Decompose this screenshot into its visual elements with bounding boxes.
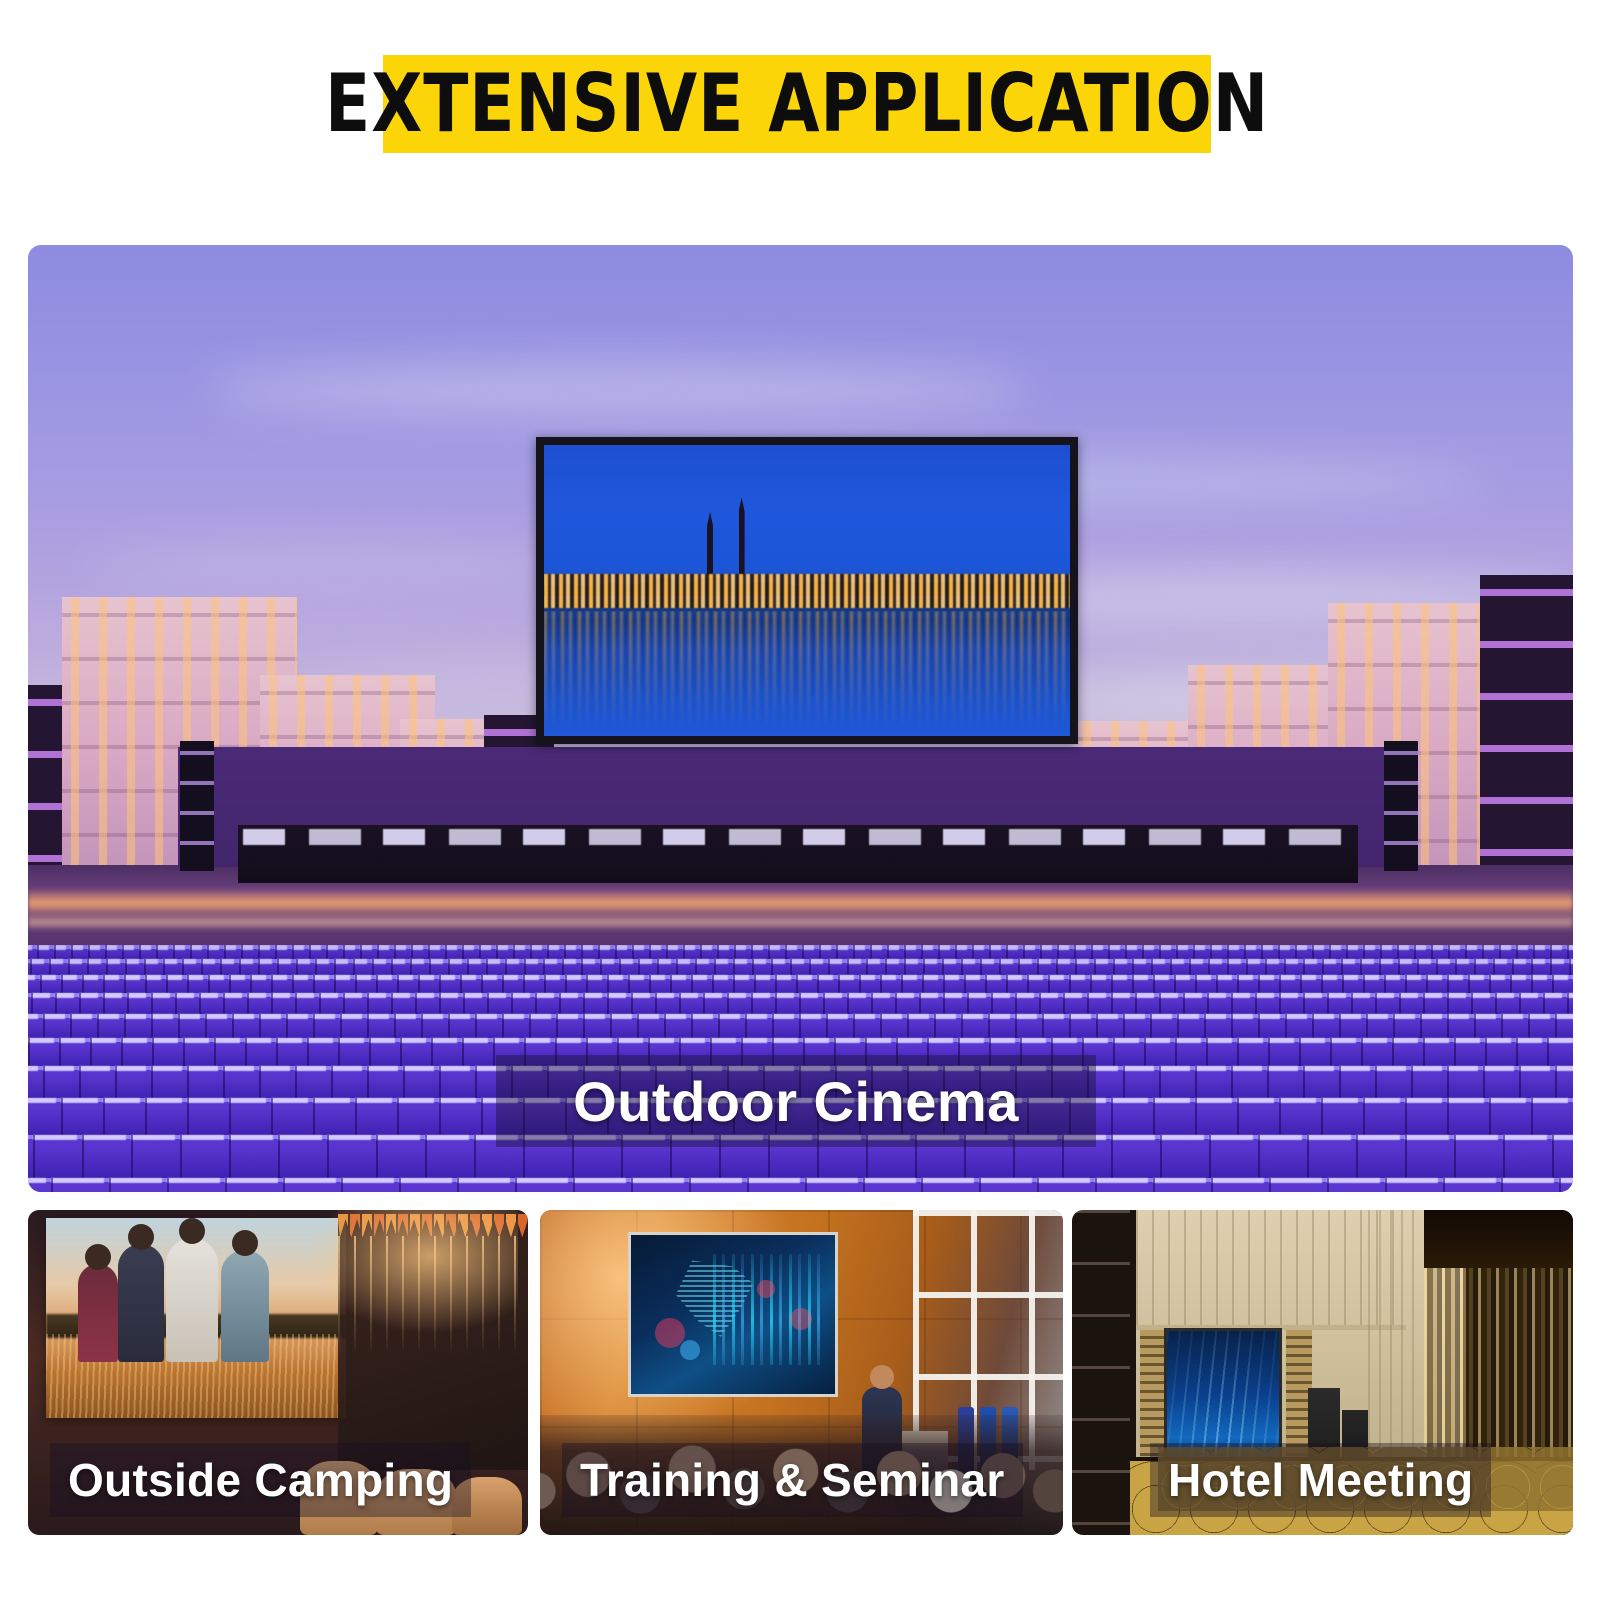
hero-caption: Outdoor Cinema	[496, 1055, 1096, 1147]
tile-outside-camping: Outside Camping	[28, 1210, 528, 1535]
tile-caption: Training & Seminar	[562, 1443, 1023, 1517]
water-reflection	[544, 611, 1070, 736]
tile-caption: Outside Camping	[50, 1443, 471, 1517]
tile-hotel-meeting: Hotel Meeting	[1072, 1210, 1573, 1535]
head	[128, 1224, 154, 1250]
header-banner: EXTENSIVE APPLICATION	[383, 55, 1211, 153]
projection-screen	[536, 437, 1078, 744]
cloud-streak	[208, 365, 1028, 415]
seat-row	[28, 1014, 1573, 1040]
stage-truss	[180, 741, 214, 871]
person-silhouette	[118, 1244, 164, 1362]
seat-row	[28, 975, 1573, 995]
screen-bokeh-dot	[757, 1280, 775, 1298]
product-feature-page: EXTENSIVE APPLICATION	[0, 0, 1600, 1600]
tile-training-seminar: Training & Seminar	[540, 1210, 1063, 1535]
person-silhouette	[78, 1264, 118, 1362]
tile-caption-text: Training & Seminar	[580, 1453, 1005, 1507]
hero-caption-text: Outdoor Cinema	[573, 1069, 1019, 1134]
screen-content-cityscape	[544, 445, 1070, 736]
head	[870, 1365, 894, 1389]
city-lights	[544, 574, 1070, 608]
seat-row	[28, 993, 1573, 1016]
seminar-projection-screen	[628, 1232, 838, 1397]
curtain-header	[1424, 1210, 1573, 1268]
plaza-light-streak	[28, 913, 1573, 931]
adjacent-image-edge	[1072, 1210, 1130, 1535]
tile-caption-text: Outside Camping	[68, 1453, 453, 1507]
person-silhouette	[166, 1238, 218, 1362]
stage-truss	[1384, 741, 1418, 871]
person-silhouette	[221, 1250, 269, 1362]
head	[232, 1230, 258, 1256]
head	[179, 1218, 205, 1244]
seat-row	[28, 1178, 1573, 1192]
tile-caption-text: Hotel Meeting	[1168, 1453, 1473, 1507]
church-spire	[739, 497, 745, 576]
cloud-streak	[88, 545, 588, 585]
screen-bokeh-dot	[680, 1340, 700, 1360]
head	[85, 1244, 111, 1270]
church-spire	[707, 512, 713, 576]
wall-panel	[1136, 1210, 1406, 1330]
wall-pillar	[1368, 1210, 1420, 1482]
warm-glow	[298, 1210, 518, 1340]
hero-image-outdoor-cinema: Outdoor Cinema	[28, 245, 1573, 1192]
application-tiles: Outside Camping Training	[28, 1210, 1573, 1535]
stage-lighting	[243, 829, 1353, 845]
page-title: EXTENSIVE APPLICATION	[325, 64, 1269, 144]
tile-caption: Hotel Meeting	[1150, 1443, 1491, 1517]
